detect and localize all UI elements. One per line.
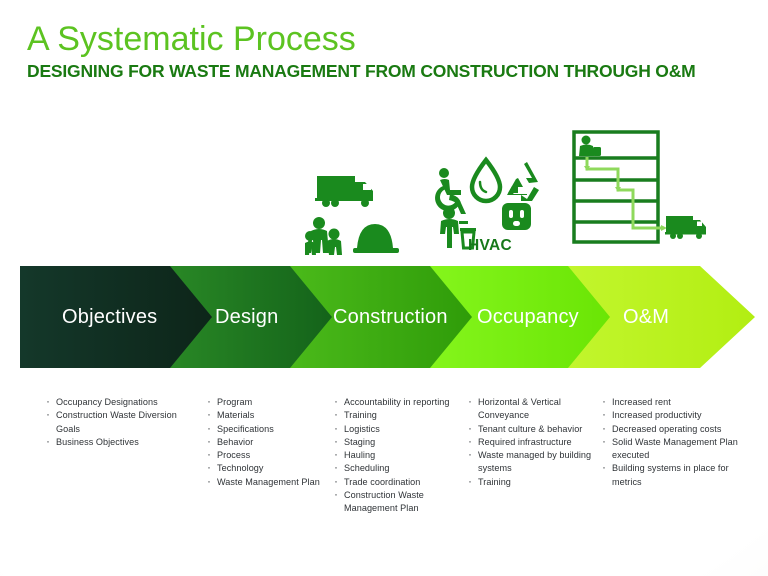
column-om: Increased rentIncreased productivityDecr…: [600, 396, 760, 489]
garbage-truck-icon: [315, 176, 373, 207]
list-item: Process: [205, 449, 325, 462]
list-item: Program: [205, 396, 325, 409]
slide-canvas: A Systematic Process DESIGNING FOR WASTE…: [0, 0, 768, 576]
hvac-label: HVAC: [468, 237, 512, 255]
list-item: Solid Waste Management Plan executed: [600, 436, 760, 463]
list-item: Construction Waste Management Plan: [332, 489, 462, 516]
list-item: Trade coordination: [332, 476, 462, 489]
garbage-truck-icon: [665, 216, 706, 239]
list-item: Required infrastructure: [466, 436, 594, 449]
list-item: Technology: [205, 462, 325, 475]
list-item: Increased rent: [600, 396, 760, 409]
process-arrow-band: Objectives Design Construction Occupancy…: [0, 262, 768, 372]
bullet-list-om: Increased rentIncreased productivityDecr…: [600, 396, 760, 489]
column-occupancy: Horizontal & Vertical ConveyanceTenant c…: [466, 396, 594, 489]
water-drop-icon: [472, 160, 500, 201]
list-item: Decreased operating costs: [600, 423, 760, 436]
om-icon-group: [570, 128, 710, 253]
electrical-outlet-icon: [502, 203, 531, 230]
list-item: Construction Waste Diversion Goals: [44, 409, 199, 436]
list-item: Building systems in place for metrics: [600, 462, 760, 489]
column-design: ProgramMaterialsSpecificationsBehaviorPr…: [205, 396, 325, 489]
person-with-bin-icon: [579, 136, 601, 157]
wheelchair-accessible-icon: [435, 168, 466, 214]
construction-icon-group: [305, 168, 405, 258]
header: A Systematic Process DESIGNING FOR WASTE…: [27, 18, 696, 83]
list-item: Specifications: [205, 423, 325, 436]
hard-hat-icon: [353, 224, 399, 253]
list-item: Accountability in reporting: [332, 396, 462, 409]
list-item: Waste managed by building systems: [466, 449, 594, 476]
list-item: Tenant culture & behavior: [466, 423, 594, 436]
column-construction: Accountability in reportingTrainingLogis…: [332, 396, 462, 516]
bullet-list-construction: Accountability in reportingTrainingLogis…: [332, 396, 462, 516]
list-item: Training: [332, 409, 462, 422]
workers-family-icon: [305, 217, 342, 255]
stage-detail-columns: Occupancy DesignationsConstruction Waste…: [0, 396, 768, 566]
page-subtitle: DESIGNING FOR WASTE MANAGEMENT FROM CONS…: [27, 60, 696, 83]
column-objectives: Occupancy DesignationsConstruction Waste…: [44, 396, 199, 449]
recycle-icon: [506, 162, 539, 201]
list-item: Behavior: [205, 436, 325, 449]
list-item: Staging: [332, 436, 462, 449]
list-item: Occupancy Designations: [44, 396, 199, 409]
bullet-list-objectives: Occupancy DesignationsConstruction Waste…: [44, 396, 199, 449]
waste-flow-path: [587, 157, 663, 228]
list-item: Increased productivity: [600, 409, 760, 422]
list-item: Materials: [205, 409, 325, 422]
list-item: Training: [466, 476, 594, 489]
bullet-list-design: ProgramMaterialsSpecificationsBehaviorPr…: [205, 396, 325, 489]
bullet-list-occupancy: Horizontal & Vertical ConveyanceTenant c…: [466, 396, 594, 489]
page-title: A Systematic Process: [27, 18, 696, 60]
list-item: Business Objectives: [44, 436, 199, 449]
list-item: Horizontal & Vertical Conveyance: [466, 396, 594, 423]
list-item: Scheduling: [332, 462, 462, 475]
list-item: Hauling: [332, 449, 462, 462]
list-item: Logistics: [332, 423, 462, 436]
list-item: Waste Management Plan: [205, 476, 325, 489]
occupancy-icon-group: HVAC: [430, 158, 545, 253]
